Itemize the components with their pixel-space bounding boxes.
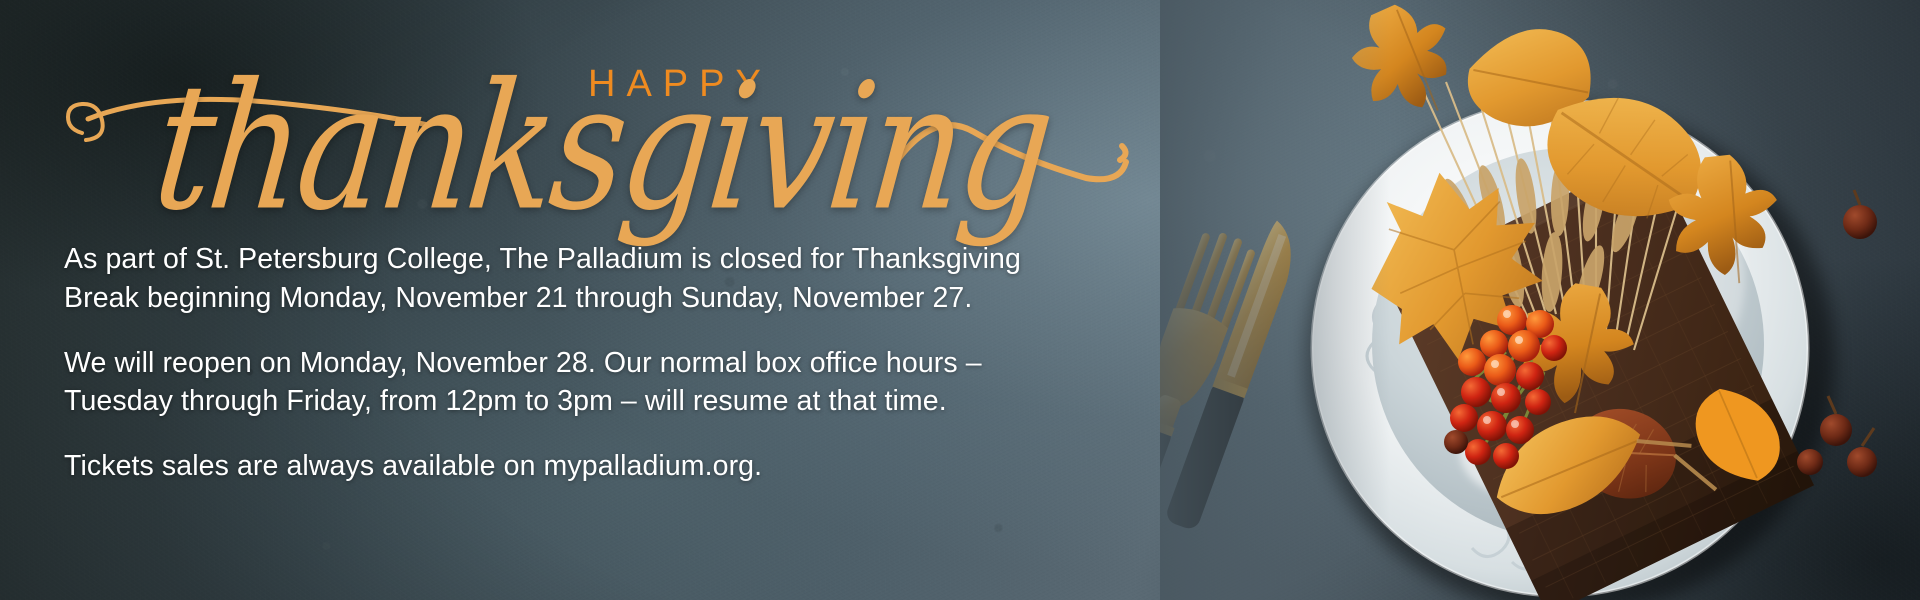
thanksgiving-banner: HAPPY thanksgiving As part of St. Peters… <box>0 0 1920 600</box>
autumn-leaf-oak-top-left <box>1339 0 1474 134</box>
thanksgiving-table-photo <box>1160 0 1920 600</box>
announcement-copy: As part of St. Petersburg College, The P… <box>64 240 1084 486</box>
copy-paragraph-2: We will reopen on Monday, November 28. O… <box>64 344 1084 422</box>
table-setting-illustration <box>1160 0 1920 600</box>
copy-paragraph-3: Tickets sales are always available on my… <box>64 447 1084 486</box>
copy-paragraph-1: As part of St. Petersburg College, The P… <box>64 240 1084 318</box>
